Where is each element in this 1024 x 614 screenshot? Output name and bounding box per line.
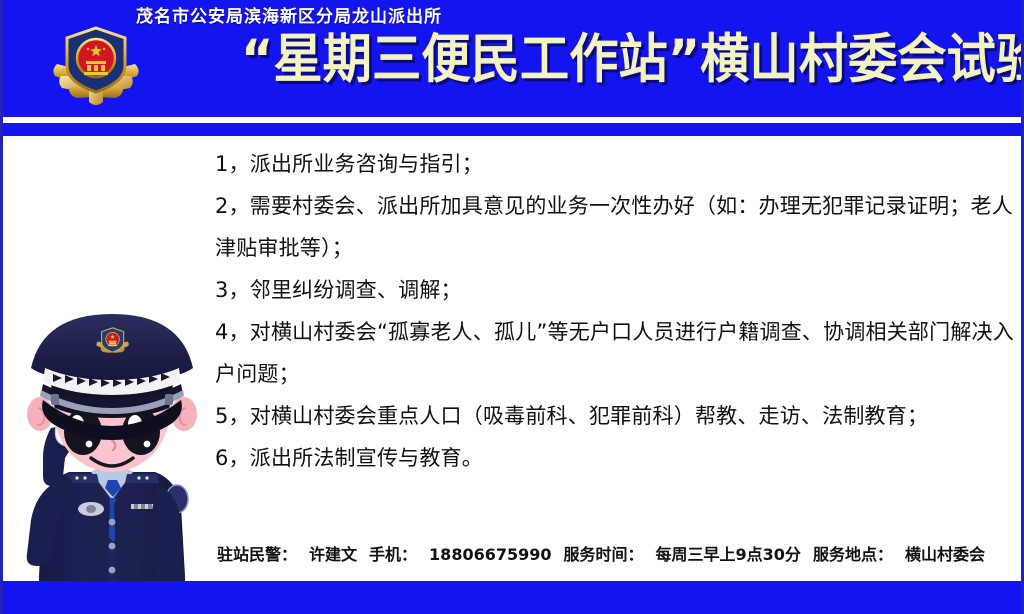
service-place-value: 横山村委会 — [905, 545, 985, 564]
page-title: “星期三便民工作站”横山村委会试验点服务项目 — [241, 31, 1024, 89]
poster-header: 茂名市公安局滨海新区分局龙山派出所 “星期三便民工作站”横山村委会试验点服务项目 — [3, 0, 1024, 117]
service-place-label: 服务地点： — [813, 545, 893, 564]
list-item: 1，派出所业务咨询与指引； — [215, 143, 1015, 185]
china-police-badge-icon — [47, 18, 145, 112]
footer-blue-band — [3, 581, 1024, 614]
service-items-list: 1，派出所业务咨询与指引； 2，需要村委会、派出所加具意见的业务一次性办好（如：… — [215, 143, 1015, 479]
organization-name: 茂名市公安局滨海新区分局龙山派出所 — [136, 2, 442, 27]
officer-name: 许建文 — [309, 545, 357, 564]
phone-label: 手机： — [369, 545, 417, 564]
list-item: 6，派出所法制宣传与教育。 — [215, 437, 1015, 479]
poster-root: 茂名市公安局滨海新区分局龙山派出所 “星期三便民工作站”横山村委会试验点服务项目 — [0, 0, 1024, 614]
service-time-value: 每周三早上9点30分 — [656, 545, 801, 564]
list-item: 5，对横山村委会重点人口（吸毒前科、犯罪前科）帮教、走访、法制教育； — [215, 395, 1015, 437]
officer-label: 驻站民警： — [217, 545, 297, 564]
list-item: 3，邻里纠纷调查、调解； — [215, 269, 1015, 311]
header-divider-blue — [3, 123, 1024, 136]
list-item: 4，对横山村委会“孤寡老人、孤儿”等无户口人员进行户籍调查、协调相关部门解决入户… — [215, 311, 1015, 395]
service-time-label: 服务时间： — [564, 545, 644, 564]
saluting-police-officer-mascot-icon — [7, 304, 217, 614]
list-item: 2，需要村委会、派出所加具意见的业务一次性办好（如：办理无犯罪记录证明；老人津贴… — [215, 185, 1015, 269]
phone-value: 18806675990 — [429, 545, 551, 564]
poster-body: 1，派出所业务咨询与指引； 2，需要村委会、派出所加具意见的业务一次性办好（如：… — [3, 136, 1024, 581]
contact-info-line: 驻站民警：许建文手机：18806675990服务时间：每周三早上9点30分服务地… — [217, 545, 1024, 565]
